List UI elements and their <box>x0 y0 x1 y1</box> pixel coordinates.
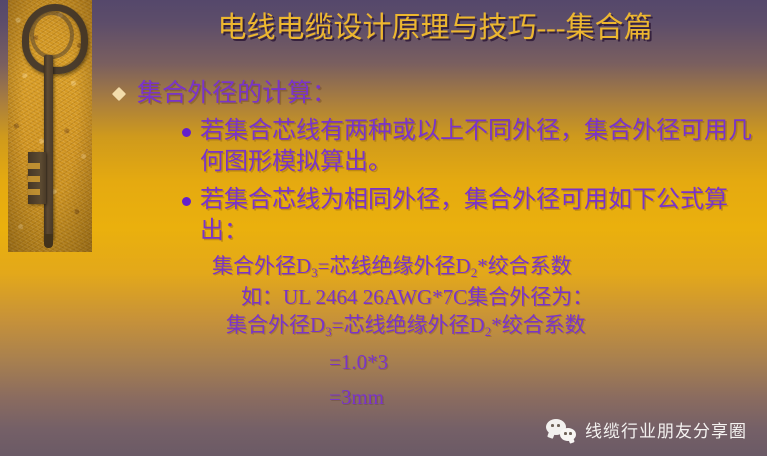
formula-2-pre: 如：UL 2464 26AWG*7C集合外径为： <box>241 285 593 309</box>
formula-line-1: 集合外径D3=芯线绝缘外径D2*绞合系数 <box>212 252 764 283</box>
bullet-level1-label: 集合外径的计算： <box>137 80 337 107</box>
bullet-level2-label-1: 若集合芯线有两种或以上不同外径，集合外径可用几何图形模拟算出。 <box>200 118 752 175</box>
bullet-level2-item-1: 若集合芯线有两种或以上不同外径，集合外径可用几何图形模拟算出。 <box>182 116 764 178</box>
round-bullet-icon <box>182 128 191 137</box>
formula-1-pre: 集合外径D <box>212 254 311 278</box>
bullet-level2-label-2: 若集合芯线为相同外径，集合外径可用如下公式算出： <box>200 187 728 244</box>
formula-line-3: 集合外径D3=芯线绝缘外径D2*绞合系数 <box>226 311 764 342</box>
diamond-bullet-icon <box>112 87 126 101</box>
formula-line-4: =1.0*3 <box>329 348 764 376</box>
watermark-label: 线缆行业朋友分享圈 <box>585 417 747 442</box>
wechat-icon <box>546 419 576 441</box>
formula-3-post: *绞合系数 <box>491 313 586 337</box>
formula-4-pre: =1.0*3 <box>329 350 388 374</box>
bullet-level1-heading: 集合外径的计算： <box>104 78 764 110</box>
formula-3-sub2: 2 <box>485 324 492 339</box>
slide-body: 集合外径的计算： 若集合芯线有两种或以上不同外径，集合外径可用几何图形模拟算出。… <box>104 78 764 411</box>
photo-vignette <box>8 0 92 252</box>
wechat-eye-3 <box>564 432 567 435</box>
formula-line-2: 如：UL 2464 26AWG*7C集合外径为： <box>241 283 764 311</box>
wechat-eye-1 <box>551 424 554 427</box>
wechat-watermark: 线缆行业朋友分享圈 <box>546 417 747 442</box>
round-bullet-icon <box>182 197 191 206</box>
vintage-key-photo <box>8 0 92 252</box>
formula-3-mid: =芯线绝缘外径D <box>332 313 485 337</box>
formula-line-5: =3mm <box>329 383 764 411</box>
wechat-eye-4 <box>569 432 572 435</box>
formula-3-sub1: 3 <box>325 324 332 339</box>
formula-1-post: *绞合系数 <box>477 254 572 278</box>
formula-3-pre: 集合外径D <box>226 313 325 337</box>
slide-title: 电线电缆设计原理与技巧---集合篇 <box>110 8 760 48</box>
bullet-level2-item-2: 若集合芯线为相同外径，集合外径可用如下公式算出： <box>182 185 764 247</box>
formula-1-mid: =芯线绝缘外径D <box>318 254 471 278</box>
formula-1-sub2: 2 <box>471 265 478 280</box>
formula-5-pre: =3mm <box>329 385 384 409</box>
wechat-bubble-small <box>560 428 576 441</box>
presentation-slide: 电线电缆设计原理与技巧---集合篇 集合外径的计算： 若集合芯线有两种或以上不同… <box>0 0 767 456</box>
wechat-eye-2 <box>557 424 560 427</box>
formula-1-sub1: 3 <box>311 265 318 280</box>
